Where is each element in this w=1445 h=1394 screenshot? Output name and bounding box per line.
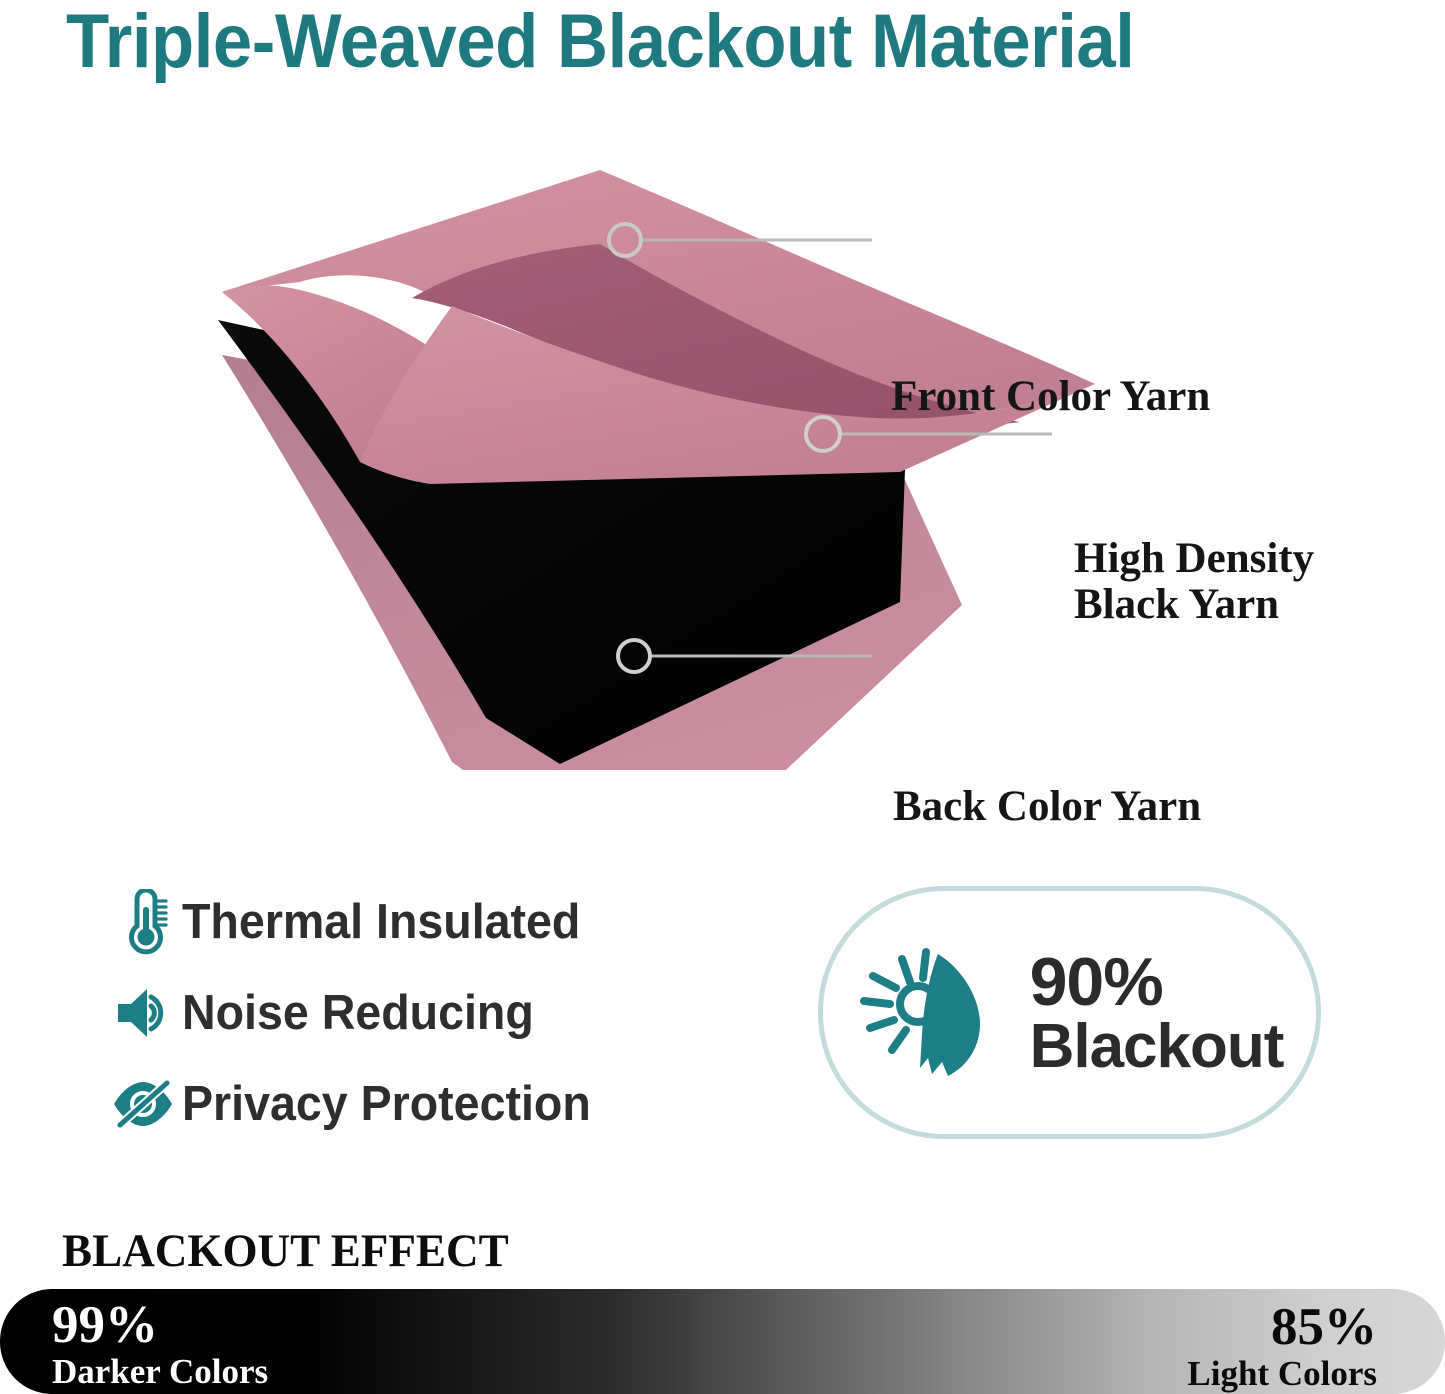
feature-noise-reducing: Noise Reducing [104, 967, 744, 1058]
sun-blocked-icon [856, 938, 1004, 1088]
callout-label-middle-line2: Black Yarn [1074, 582, 1314, 628]
bar-stat-darker: 99% Darker Colors [52, 1299, 268, 1392]
blackout-effect-heading: BLACKOUT EFFECT [62, 1224, 509, 1278]
bar-percent: 85% [1187, 1301, 1377, 1354]
blackout-badge: 90% Blackout [818, 886, 1321, 1139]
thermometer-icon [104, 889, 182, 955]
bar-caption: Darker Colors [52, 1352, 268, 1392]
page-title: Triple-Weaved Blackout Material [66, 0, 1134, 85]
eye-slash-icon [104, 1079, 182, 1129]
bar-caption: Light Colors [1187, 1354, 1377, 1394]
callout-label-front: Front Color Yarn [891, 374, 1210, 420]
blackout-effect-gradient-bar: 99% Darker Colors 85% Light Colors [0, 1289, 1445, 1394]
callout-label-middle: High Density Black Yarn [1074, 536, 1314, 627]
badge-text: 90% Blackout [1030, 948, 1284, 1078]
feature-list: Thermal Insulated Noise Reducing Privacy… [104, 876, 744, 1149]
feature-label: Privacy Protection [182, 1076, 591, 1132]
feature-thermal-insulated: Thermal Insulated [104, 876, 744, 967]
bar-stat-light: 85% Light Colors [1187, 1301, 1377, 1394]
feature-label: Thermal Insulated [182, 894, 580, 950]
bar-percent: 99% [52, 1299, 268, 1352]
callout-label-middle-line1: High Density [1074, 536, 1314, 582]
badge-word: Blackout [1030, 1016, 1284, 1078]
callout-label-back: Back Color Yarn [893, 784, 1201, 830]
fabric-layers-diagram: Front Color Yarn High Density Black Yarn… [0, 150, 1445, 770]
badge-percent: 90% [1030, 948, 1284, 1016]
speaker-icon [104, 984, 182, 1042]
feature-privacy-protection: Privacy Protection [104, 1058, 744, 1149]
feature-label: Noise Reducing [182, 985, 534, 1041]
title-bar: Triple-Weaved Blackout Material [0, 0, 1445, 96]
